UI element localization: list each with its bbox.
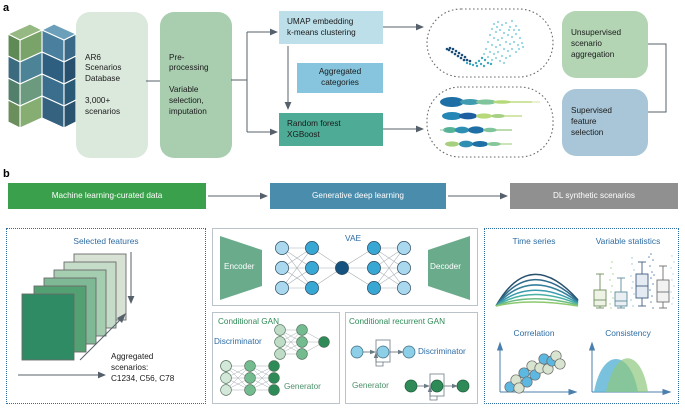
flow-step-dl-synthetic-scenarios: DL synthetic scenarios xyxy=(510,183,678,209)
crgan-discriminator-label: Discriminator xyxy=(418,347,466,356)
vae-decoder-label: Decoder xyxy=(430,262,461,271)
aggregated-scenarios-annotation: Aggregated scenarios: C1234, C56, C78 xyxy=(111,352,203,384)
flow-arrow-2 xyxy=(448,191,510,201)
stack-down-arrow xyxy=(126,252,136,306)
stack-horizontal-arrow xyxy=(18,370,108,380)
vae-title: VAE xyxy=(345,233,361,243)
umap-kmeans-label: UMAP embedding k-means clustering xyxy=(287,17,356,39)
umap-kmeans-box: UMAP embedding k-means clustering xyxy=(279,11,383,44)
variable-statistics-title: Variable statistics xyxy=(580,236,676,246)
arrow-umap-to-plot xyxy=(383,22,425,32)
conditional-recurrent-gan-diagram xyxy=(345,312,478,404)
random-forest-xgboost-label: Random forest XGBoost xyxy=(287,119,341,141)
arrow-rf-to-plot xyxy=(383,124,425,134)
random-forest-xgboost-box: Random forest XGBoost xyxy=(279,113,383,146)
time-series-chart xyxy=(492,250,582,312)
scenario-data-cube xyxy=(6,22,78,128)
flow-step-1-label: Machine learning-curated data xyxy=(52,191,163,202)
result-bracket xyxy=(648,22,674,134)
preprocessing-label: Pre- processing Variable selection, impu… xyxy=(169,53,209,118)
correlation-chart xyxy=(494,342,580,400)
consistency-title: Consistency xyxy=(580,328,676,338)
flow-step-2-label: Generative deep learning xyxy=(312,191,404,202)
crgan-generator-label: Generator xyxy=(352,381,389,390)
aggregated-categories-label: Aggregated categories xyxy=(319,67,361,89)
preprocessing-box: Pre- processing Variable selection, impu… xyxy=(160,12,232,158)
shap-beeswarm-plot xyxy=(426,86,554,158)
ar6-database-box: AR6 Scenarios Database 3,000+ scenarios xyxy=(76,12,148,158)
panel-a-letter: a xyxy=(3,2,9,14)
supervised-feature-selection-box: Supervised feature selection xyxy=(562,89,648,156)
unsupervised-aggregation-box: Unsupervised scenario aggregation xyxy=(562,11,648,78)
flow-step-3-label: DL synthetic scenarios xyxy=(553,191,635,202)
flow-step-generative-deep-learning: Generative deep learning xyxy=(270,183,446,209)
cgan-discriminator-label: Discriminator xyxy=(214,337,262,346)
supervised-feature-selection-label: Supervised feature selection xyxy=(571,106,612,138)
flow-step-ml-curated-data: Machine learning-curated data xyxy=(8,183,206,209)
time-series-title: Time series xyxy=(490,236,578,246)
vae-encoder-label: Encoder xyxy=(224,262,255,271)
unsupervised-aggregation-label: Unsupervised scenario aggregation xyxy=(571,28,621,60)
correlation-title: Correlation xyxy=(490,328,578,338)
ar6-database-label: AR6 Scenarios Database 3,000+ scenarios xyxy=(85,53,121,118)
branch-arrows-preprocessing xyxy=(231,14,281,144)
arrow-umap-to-rf xyxy=(283,46,293,112)
cgan-generator-label: Generator xyxy=(284,382,321,391)
selected-features-title: Selected features xyxy=(6,236,206,246)
panel-b-letter: b xyxy=(3,168,10,180)
variable-statistics-chart xyxy=(586,248,678,314)
umap-scatter-plot xyxy=(426,8,554,78)
flow-arrow-1 xyxy=(208,191,270,201)
aggregated-categories-box: Aggregated categories xyxy=(297,63,383,93)
consistency-chart xyxy=(586,342,674,400)
